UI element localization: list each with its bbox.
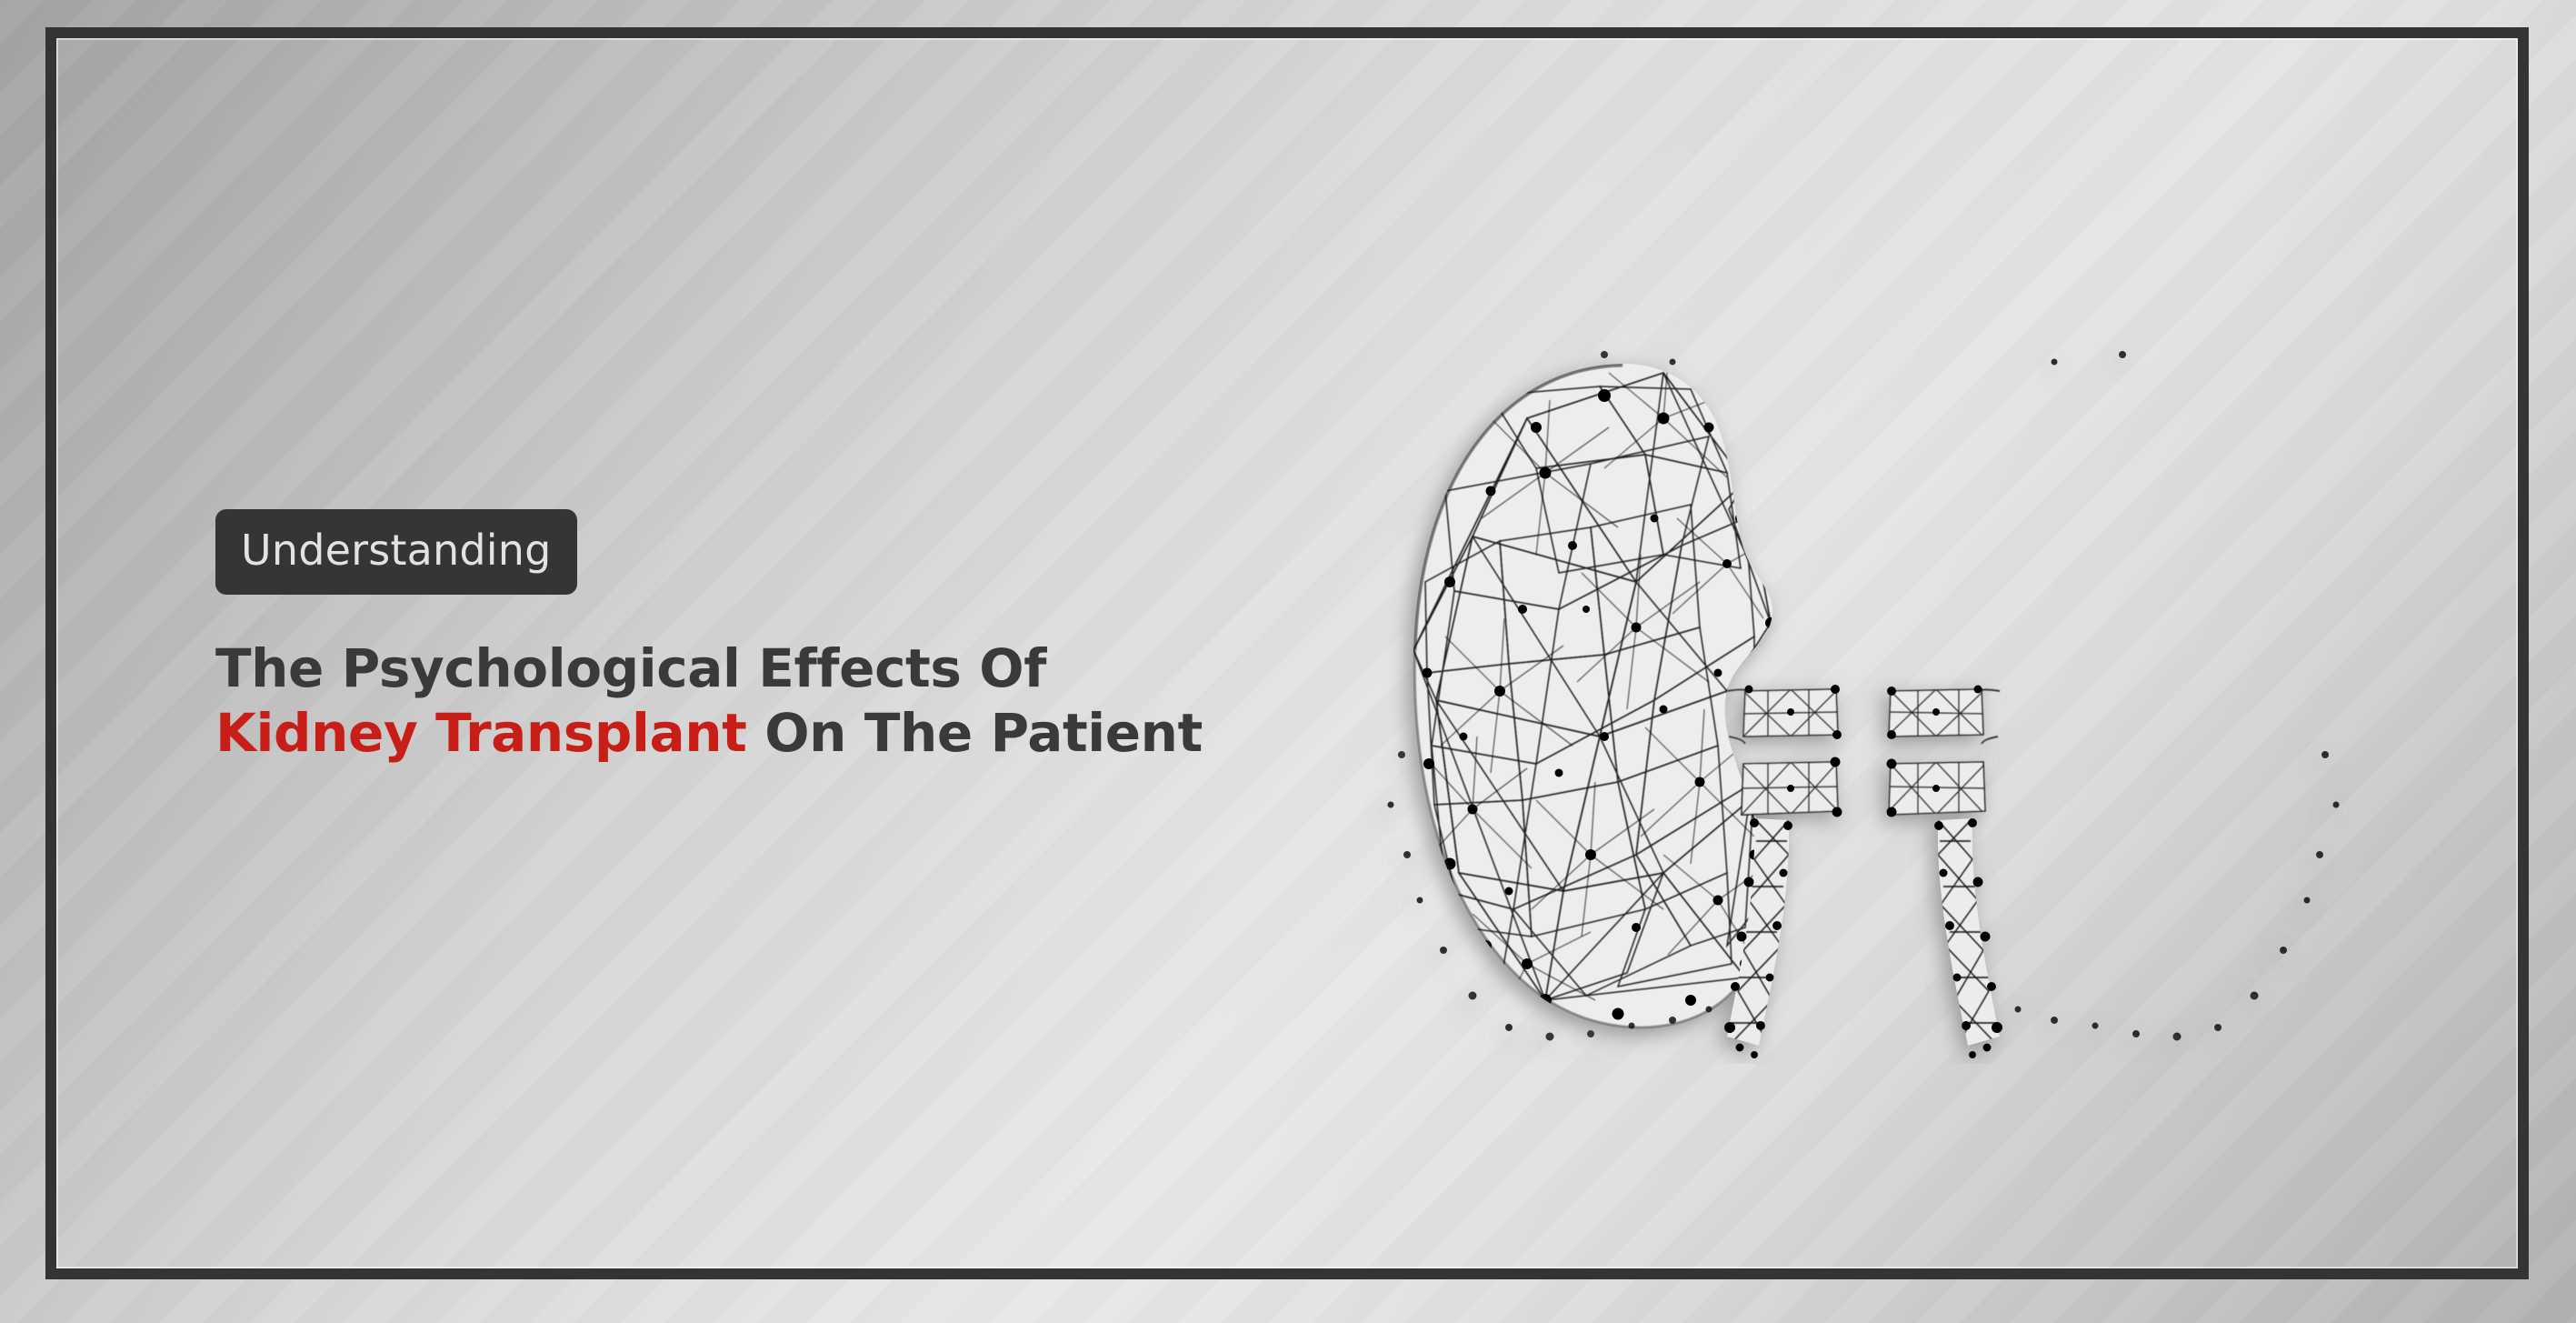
headline-line-2: Kidney Transplant On The Patient bbox=[215, 701, 1306, 766]
banner-canvas: Understanding The Psychological Effects … bbox=[0, 0, 2576, 1323]
eyebrow-badge: Understanding bbox=[215, 509, 577, 595]
headline-accent-text: Kidney Transplant bbox=[215, 702, 746, 764]
headline-line-1: The Psychological Effects Of bbox=[215, 636, 1306, 701]
kidneys-illustration bbox=[1363, 309, 2363, 1064]
page-title: The Psychological Effects Of Kidney Tran… bbox=[215, 636, 1306, 766]
headline-block: Understanding The Psychological Effects … bbox=[215, 509, 1306, 766]
headline-line-2-rest: On The Patient bbox=[746, 702, 1202, 764]
